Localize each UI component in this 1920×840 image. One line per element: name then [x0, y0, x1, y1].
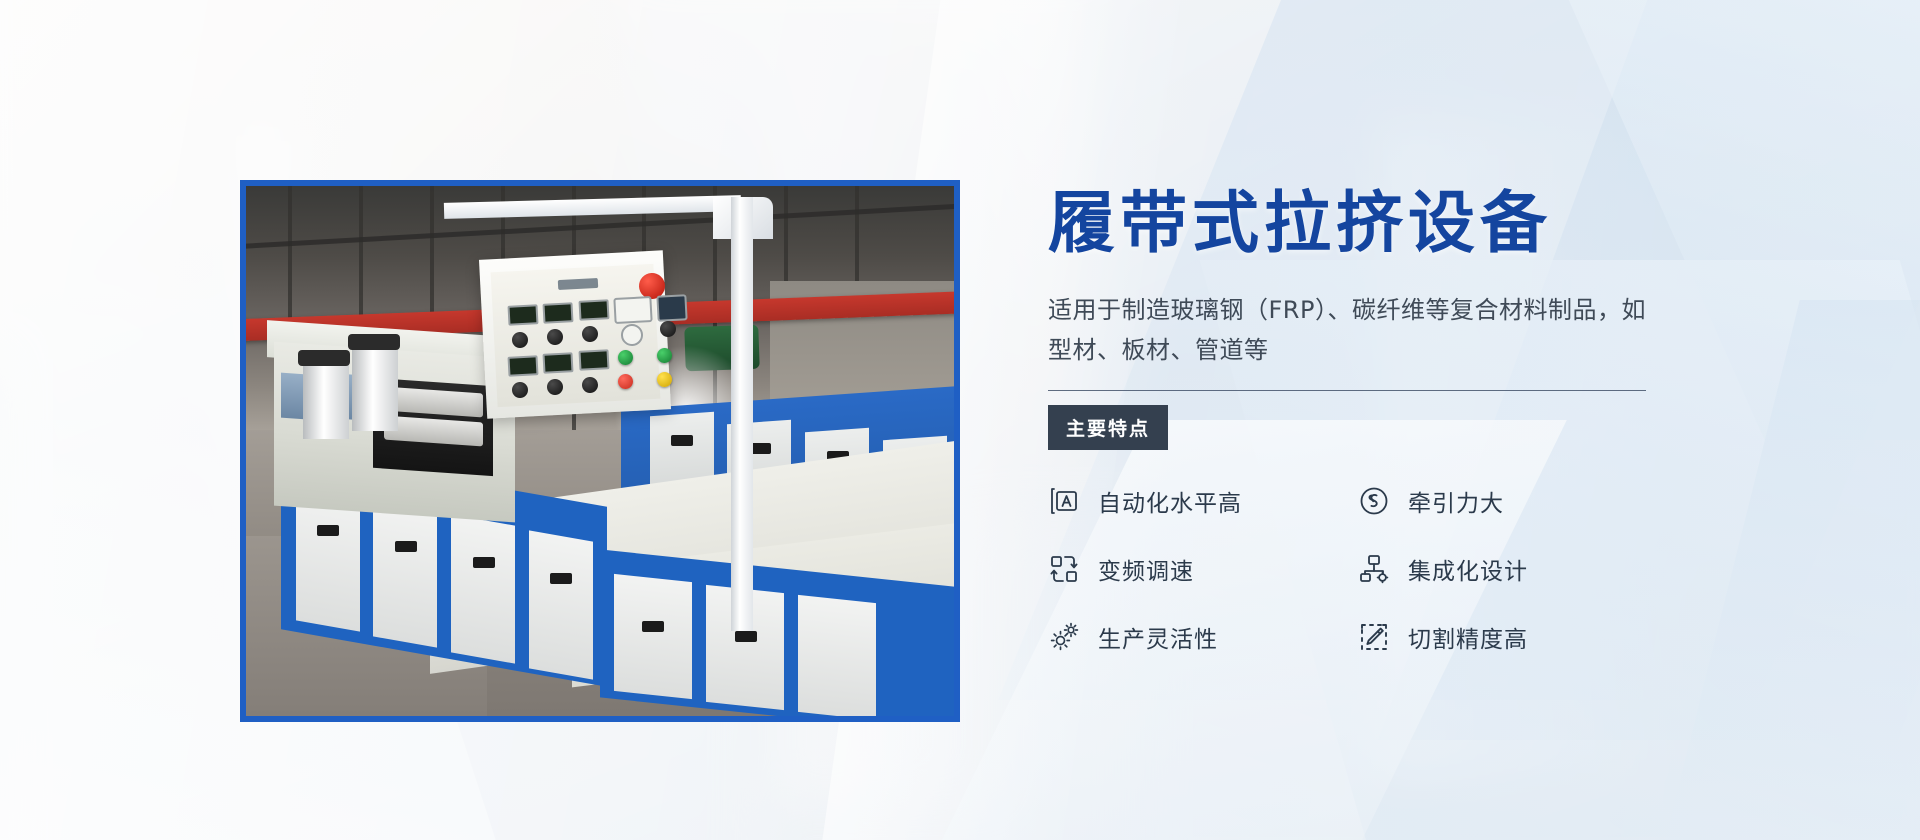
- feature-item-flexibility[interactable]: 生产灵活性: [1048, 620, 1358, 654]
- feature-label: 生产灵活性: [1098, 620, 1218, 654]
- page-title: 履带式拉挤设备: [1048, 186, 1688, 261]
- product-photo: [246, 186, 954, 716]
- integrated-nodes-gear-icon: [1358, 553, 1390, 585]
- feature-item-frequency[interactable]: 变频调速: [1048, 552, 1358, 586]
- product-description: 适用于制造玻璃钢（FRP）、碳纤维等复合材料制品，如型材、板材、管道等: [1048, 291, 1648, 370]
- section-divider: [1048, 390, 1646, 391]
- banner-content: 履带式拉挤设备 适用于制造玻璃钢（FRP）、碳纤维等复合材料制品，如型材、板材、…: [1048, 186, 1688, 654]
- feature-list: 自动化水平高 牵引力大: [1048, 484, 1688, 654]
- feature-item-automation[interactable]: 自动化水平高: [1048, 484, 1358, 518]
- feature-label: 自动化水平高: [1098, 484, 1242, 518]
- cutting-precision-pen-icon: [1358, 621, 1390, 653]
- product-photo-card: [240, 180, 960, 722]
- product-banner: 履带式拉挤设备 适用于制造玻璃钢（FRP）、碳纤维等复合材料制品，如型材、板材、…: [0, 0, 1920, 840]
- feature-label: 切割精度高: [1408, 620, 1528, 654]
- gears-flexibility-icon: [1048, 621, 1080, 653]
- feature-item-traction[interactable]: 牵引力大: [1358, 484, 1668, 518]
- automation-square-a-icon: [1048, 485, 1080, 517]
- feature-item-cutting[interactable]: 切割精度高: [1358, 620, 1668, 654]
- feature-label: 牵引力大: [1408, 484, 1504, 518]
- frequency-conversion-icon: [1048, 553, 1080, 585]
- feature-label: 集成化设计: [1408, 552, 1528, 586]
- feature-item-integrated[interactable]: 集成化设计: [1358, 552, 1668, 586]
- status-badge: 主要特点: [1048, 405, 1168, 450]
- traction-wave-circle-icon: [1358, 485, 1390, 517]
- feature-label: 变频调速: [1098, 552, 1194, 586]
